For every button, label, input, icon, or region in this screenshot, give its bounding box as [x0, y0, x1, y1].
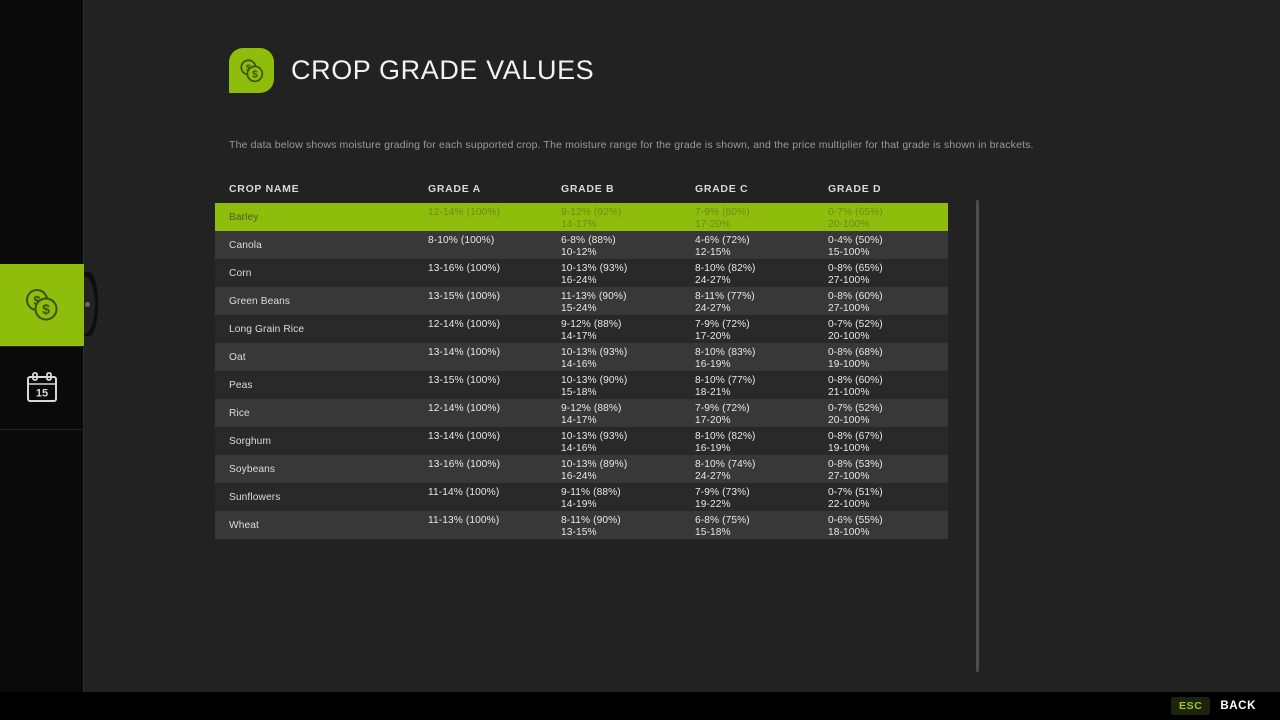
table-row[interactable]: Green Beans13-15% (100%)11-13% (90%) 15-… [215, 287, 948, 315]
table-row[interactable]: Rice12-14% (100%)9-12% (88%) 14-17%7-9% … [215, 399, 948, 427]
cell-grade-a: 13-14% (100%) [428, 431, 500, 443]
coins-icon: $ $ [237, 56, 267, 86]
cell-grade-c: 8-10% (77%) 18-21% [695, 375, 756, 398]
sidebar-divider-2 [0, 429, 84, 430]
table-row[interactable]: Canola8-10% (100%)6-8% (88%) 10-12%4-6% … [215, 231, 948, 259]
cell-grade-b: 11-13% (90%) 15-24% [561, 291, 627, 314]
page-title-badge: $ $ [229, 48, 274, 93]
back-button[interactable]: BACK [1220, 700, 1256, 712]
table-row[interactable]: Peas13-15% (100%)10-13% (90%) 15-18%8-10… [215, 371, 948, 399]
cell-crop-name: Green Beans [229, 296, 290, 308]
sidebar-item-calendar[interactable]: 15 [0, 347, 84, 429]
cell-grade-c: 8-10% (74%) 24-27% [695, 459, 756, 482]
cell-grade-c: 8-10% (82%) 24-27% [695, 263, 756, 286]
column-header-grade-b: GRADE B [561, 183, 614, 195]
cell-crop-name: Peas [229, 380, 253, 392]
cell-grade-c: 7-9% (72%) 17-20% [695, 319, 750, 342]
cell-grade-a: 13-15% (100%) [428, 375, 500, 387]
crop-grade-table: CROP NAME GRADE A GRADE B GRADE C GRADE … [215, 180, 948, 539]
cell-grade-c: 6-8% (75%) 15-18% [695, 515, 750, 538]
cell-grade-b: 10-13% (93%) 16-24% [561, 263, 627, 286]
cell-crop-name: Canola [229, 240, 262, 252]
cell-grade-d: 0-8% (60%) 21-100% [828, 375, 883, 398]
cell-grade-c: 8-10% (83%) 16-19% [695, 347, 756, 370]
cell-grade-b: 10-13% (93%) 14-16% [561, 431, 627, 454]
column-header-grade-d: GRADE D [828, 183, 881, 195]
cell-grade-b: 10-13% (93%) 14-16% [561, 347, 627, 370]
cell-grade-a: 12-14% (100%) [428, 207, 500, 219]
calendar-day-label: 15 [36, 388, 48, 400]
main-content: $ $ CROP GRADE VALUES The data below sho… [84, 0, 1280, 692]
cell-grade-c: 7-9% (73%) 19-22% [695, 487, 750, 510]
table-row[interactable]: Long Grain Rice12-14% (100%)9-12% (88%) … [215, 315, 948, 343]
cell-crop-name: Wheat [229, 520, 259, 532]
svg-text:$: $ [42, 301, 50, 317]
cell-grade-a: 12-14% (100%) [428, 403, 500, 415]
cell-grade-a: 13-16% (100%) [428, 263, 500, 275]
cell-crop-name: Oat [229, 352, 246, 364]
calendar-icon: 15 [22, 368, 62, 408]
cell-grade-a: 13-14% (100%) [428, 347, 500, 359]
cell-grade-d: 0-8% (68%) 19-100% [828, 347, 883, 370]
table-scrollbar-thumb[interactable] [976, 200, 979, 672]
table-row[interactable]: Wheat11-13% (100%)8-11% (90%) 13-15%6-8%… [215, 511, 948, 539]
cell-grade-a: 13-16% (100%) [428, 459, 500, 471]
cell-grade-c: 4-6% (72%) 12-15% [695, 235, 750, 258]
cell-grade-d: 0-8% (60%) 27-100% [828, 291, 883, 314]
cell-grade-a: 11-13% (100%) [428, 515, 499, 527]
cell-grade-b: 10-13% (90%) 15-18% [561, 375, 627, 398]
cell-crop-name: Sorghum [229, 436, 271, 448]
sidebar-notch-dot [85, 302, 90, 307]
cell-grade-a: 11-14% (100%) [428, 487, 499, 499]
column-header-crop-name: CROP NAME [229, 183, 299, 195]
table-row[interactable]: Corn13-16% (100%)10-13% (93%) 16-24%8-10… [215, 259, 948, 287]
cell-grade-c: 7-9% (72%) 17-20% [695, 403, 750, 426]
table-row[interactable]: Sunflowers11-14% (100%)9-11% (88%) 14-19… [215, 483, 948, 511]
cell-grade-d: 0-8% (65%) 27-100% [828, 263, 883, 286]
cell-grade-d: 0-8% (67%) 19-100% [828, 431, 883, 454]
esc-key-hint[interactable]: ESC [1171, 697, 1210, 715]
cell-grade-a: 8-10% (100%) [428, 235, 494, 247]
cell-grade-d: 0-7% (65%) 20-100% [828, 207, 883, 230]
cell-grade-d: 0-7% (52%) 20-100% [828, 403, 883, 426]
table-scrollbar-track[interactable] [976, 200, 979, 672]
cell-crop-name: Soybeans [229, 464, 275, 476]
page-description: The data below shows moisture grading fo… [229, 139, 1034, 151]
cell-grade-b: 8-11% (90%) 13-15% [561, 515, 621, 538]
cell-crop-name: Sunflowers [229, 492, 280, 504]
cell-crop-name: Long Grain Rice [229, 324, 304, 336]
cell-grade-b: 9-12% (88%) 14-17% [561, 319, 622, 342]
cell-grade-d: 0-7% (51%) 22-100% [828, 487, 883, 510]
cell-grade-d: 0-6% (55%) 18-100% [828, 515, 883, 538]
page-header: $ $ CROP GRADE VALUES [229, 48, 594, 93]
cell-crop-name: Rice [229, 408, 250, 420]
cell-grade-a: 13-15% (100%) [428, 291, 500, 303]
cell-crop-name: Corn [229, 268, 251, 280]
page-title: CROP GRADE VALUES [291, 55, 594, 86]
coins-icon: $ $ [21, 284, 63, 326]
cell-grade-d: 0-8% (53%) 27-100% [828, 459, 883, 482]
cell-grade-c: 8-10% (82%) 16-19% [695, 431, 756, 454]
cell-grade-b: 9-12% (92%) 14-17% [561, 207, 622, 230]
footer-bar: ESC BACK [0, 692, 1280, 720]
sidebar: $ $ 15 [0, 0, 84, 692]
cell-grade-d: 0-7% (52%) 20-100% [828, 319, 883, 342]
table-row[interactable]: Barley12-14% (100%)9-12% (92%) 14-17%7-9… [215, 203, 948, 231]
table-body: Barley12-14% (100%)9-12% (92%) 14-17%7-9… [215, 203, 948, 539]
column-header-grade-a: GRADE A [428, 183, 481, 195]
cell-grade-a: 12-14% (100%) [428, 319, 500, 331]
cell-grade-b: 9-11% (88%) 14-19% [561, 487, 621, 510]
cell-crop-name: Barley [229, 212, 258, 224]
cell-grade-c: 7-9% (80%) 17-20% [695, 207, 750, 230]
column-header-grade-c: GRADE C [695, 183, 748, 195]
table-header-row: CROP NAME GRADE A GRADE B GRADE C GRADE … [215, 180, 948, 202]
cell-grade-b: 10-13% (89%) 16-24% [561, 459, 627, 482]
table-row[interactable]: Soybeans13-16% (100%)10-13% (89%) 16-24%… [215, 455, 948, 483]
cell-grade-b: 6-8% (88%) 10-12% [561, 235, 616, 258]
table-row[interactable]: Oat13-14% (100%)10-13% (93%) 14-16%8-10%… [215, 343, 948, 371]
crop-grade-values-screen: $ $ 15 $ $ [0, 0, 1280, 720]
cell-grade-d: 0-4% (50%) 15-100% [828, 235, 883, 258]
svg-text:$: $ [252, 69, 258, 80]
sidebar-item-crop-grade-values[interactable]: $ $ [0, 264, 84, 346]
table-row[interactable]: Sorghum13-14% (100%)10-13% (93%) 14-16%8… [215, 427, 948, 455]
cell-grade-b: 9-12% (88%) 14-17% [561, 403, 622, 426]
cell-grade-c: 8-11% (77%) 24-27% [695, 291, 755, 314]
